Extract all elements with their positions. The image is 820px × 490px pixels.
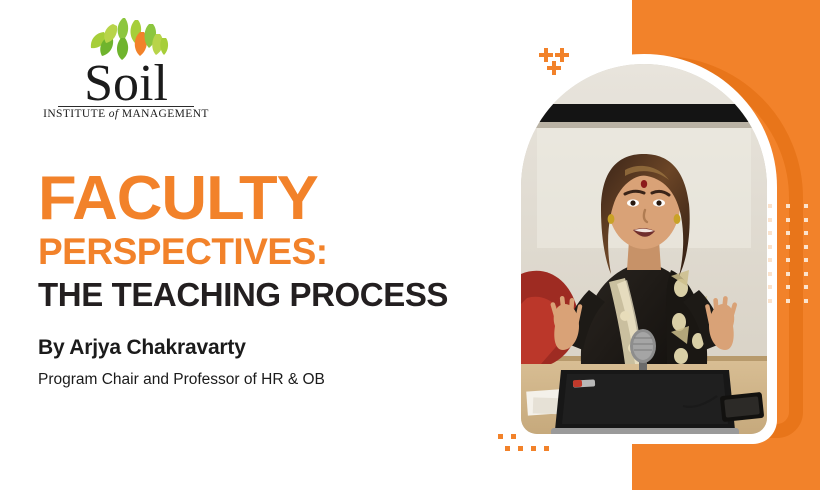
soil-institute-logo: Soil INSTITUTE of MANAGEMENT: [36, 14, 216, 118]
author-role: Program Chair and Professor of HR & OB: [38, 370, 325, 390]
grid-dot: [786, 231, 790, 235]
logo-tagline-of: of: [109, 108, 119, 120]
plus-decoration-group: [539, 48, 575, 78]
grid-dot: [786, 258, 790, 262]
dot-grid-decoration: [768, 204, 820, 312]
grid-dot: [786, 218, 790, 222]
cluster-dot: [511, 434, 516, 439]
cluster-dot: [498, 434, 503, 439]
grid-dot: [804, 299, 808, 303]
grid-dot: [786, 285, 790, 289]
dot-cluster-decoration: [498, 434, 554, 458]
logo-tagline-management: MANAGEMENT: [122, 108, 209, 120]
poster-canvas: Soil INSTITUTE of MANAGEMENT FACULTY PER…: [0, 0, 820, 490]
plus-icon: [539, 48, 553, 62]
headline-line-3: THE TEACHING PROCESS: [38, 274, 508, 316]
grid-dot: [768, 299, 772, 303]
cluster-dot: [505, 446, 510, 451]
faculty-photo: [521, 64, 767, 434]
grid-dot: [768, 285, 772, 289]
headline-line-1: FACULTY: [38, 168, 517, 230]
grid-dot: [804, 231, 808, 235]
headline-line-2: PERSPECTIVES:: [38, 230, 508, 274]
grid-dot: [786, 272, 790, 276]
grid-dot: [786, 204, 790, 208]
logo-wordmark: Soil: [36, 56, 216, 112]
grid-dot: [786, 245, 790, 249]
grid-dot: [768, 204, 772, 208]
grid-dot: [804, 258, 808, 262]
logo-tagline-institute: INSTITUTE: [43, 108, 105, 120]
grid-dot: [768, 272, 772, 276]
logo-divider: [58, 106, 194, 107]
cluster-dot: [544, 446, 549, 451]
grid-dot: [768, 245, 772, 249]
cluster-dot: [531, 446, 536, 451]
grid-dot: [804, 272, 808, 276]
plus-icon: [555, 48, 569, 62]
cluster-dot: [518, 446, 523, 451]
grid-dot: [804, 218, 808, 222]
headline-block: FACULTY PERSPECTIVES: THE TEACHING PROCE…: [38, 168, 508, 316]
grid-dot: [804, 285, 808, 289]
grid-dot: [786, 299, 790, 303]
grid-dot: [768, 258, 772, 262]
grid-dot: [768, 231, 772, 235]
logo-tagline: INSTITUTE of MANAGEMENT: [36, 108, 216, 120]
plus-icon: [547, 61, 561, 75]
grid-dot: [768, 218, 772, 222]
grid-dot: [804, 245, 808, 249]
author-byline: By Arjya Chakravarty: [38, 335, 246, 361]
faculty-photo-illustration: [521, 64, 767, 434]
grid-dot: [804, 204, 808, 208]
